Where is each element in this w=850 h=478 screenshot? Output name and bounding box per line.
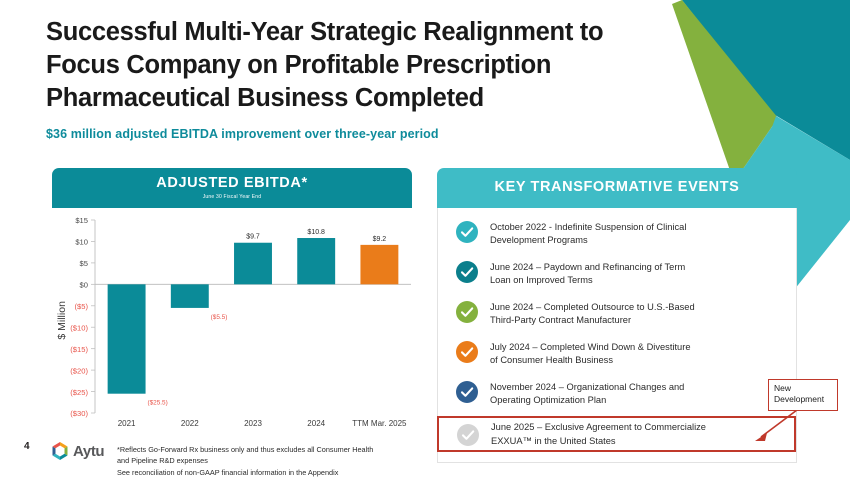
y-axis-tick-label: ($25): [70, 388, 88, 397]
y-axis-tick-label: ($10): [70, 323, 88, 332]
page-subtitle: $36 million adjusted EBITDA improvement …: [46, 127, 666, 141]
footnote-1: *Reflects Go-Forward Rx business only an…: [117, 444, 447, 455]
check-circle-icon: [457, 424, 479, 446]
y-axis-tick-label: $10: [75, 238, 88, 247]
event-row: November 2024 – Organizational Changes a…: [438, 374, 796, 414]
callout-line-1: New: [774, 383, 833, 394]
y-axis-tick-label: $5: [80, 259, 88, 268]
page-title: Successful Multi-Year Strategic Realignm…: [46, 16, 666, 115]
event-line-2: Operating Optimization Plan: [490, 394, 684, 407]
bar-data-label: ($25.5): [147, 400, 167, 407]
y-axis-tick-label: ($30): [70, 409, 88, 418]
y-axis-tick-label: ($5): [74, 302, 88, 311]
event-line-1: October 2022 - Indefinite Suspension of …: [490, 221, 686, 234]
y-axis-tick-label: ($15): [70, 345, 88, 354]
event-line-2: Third-Party Contract Manufacturer: [490, 314, 695, 327]
new-development-callout: New Development: [768, 379, 838, 411]
event-row: October 2022 - Indefinite Suspension of …: [438, 214, 796, 254]
event-text: June 2024 – Paydown and Refinancing of T…: [490, 260, 685, 288]
x-axis-category-label: 2021: [118, 419, 136, 428]
events-panel-header: KEY TRANSFORMATIVE EVENTS: [437, 168, 797, 208]
hexagon-logo-icon: [50, 441, 70, 461]
event-text: June 2025 – Exclusive Agreement to Comme…: [491, 420, 706, 448]
event-text: June 2024 – Completed Outsource to U.S.-…: [490, 300, 695, 328]
x-axis-category-label: 2024: [307, 419, 325, 428]
deco-wedge-green: [672, 0, 778, 182]
event-line-2: of Consumer Health Business: [490, 354, 691, 367]
bar-data-label: ($5.5): [211, 314, 228, 321]
event-row: June 2024 – Completed Outsource to U.S.-…: [438, 294, 796, 334]
callout-line-2: Development: [774, 394, 833, 405]
check-circle-icon: [456, 381, 478, 403]
check-circle-icon: [456, 261, 478, 283]
event-line-1: June 2024 – Completed Outsource to U.S.-…: [490, 301, 695, 314]
event-line-2: EXXUA™ in the United States: [491, 435, 706, 448]
bar: [234, 243, 272, 285]
bar-data-label: $9.2: [373, 236, 387, 243]
bar-data-label: $10.8: [307, 229, 325, 236]
event-line-1: July 2024 – Completed Wind Down & Divest…: [490, 341, 691, 354]
event-line-1: November 2024 – Organizational Changes a…: [490, 381, 684, 394]
chart-panel-header: ADJUSTED EBITDA* June 30 Fiscal Year End: [52, 168, 412, 208]
bar: [360, 245, 398, 284]
footnotes: *Reflects Go-Forward Rx business only an…: [117, 444, 447, 478]
x-axis-category-label: TTM Mar. 2025: [352, 419, 407, 428]
events-panel-title: KEY TRANSFORMATIVE EVENTS: [437, 180, 797, 195]
event-text: October 2022 - Indefinite Suspension of …: [490, 220, 686, 248]
chart-panel-subtitle: June 30 Fiscal Year End: [52, 194, 412, 200]
bar: [171, 284, 209, 308]
chart-svg: $15$10$5$0($5)($10)($15)($20)($25)($30)$…: [52, 212, 417, 437]
event-row: June 2024 – Paydown and Refinancing of T…: [438, 254, 796, 294]
bar-data-label: $9.7: [246, 234, 260, 241]
page-number: 4: [24, 441, 30, 452]
check-circle-icon: [456, 341, 478, 363]
footnote-3: See reconciliation of non-GAAP financial…: [117, 467, 447, 478]
event-line-2: Loan on Improved Terms: [490, 274, 685, 287]
event-line-1: June 2024 – Paydown and Refinancing of T…: [490, 261, 685, 274]
check-circle-icon: [456, 221, 478, 243]
key-transformative-events-list: October 2022 - Indefinite Suspension of …: [437, 208, 797, 463]
y-axis-tick-label: $15: [75, 216, 88, 225]
event-line-1: June 2025 – Exclusive Agreement to Comme…: [491, 421, 706, 434]
event-row: July 2024 – Completed Wind Down & Divest…: [438, 334, 796, 374]
adjusted-ebitda-bar-chart: $15$10$5$0($5)($10)($15)($20)($25)($30)$…: [52, 212, 417, 437]
aytu-logo: Aytu: [50, 439, 124, 463]
y-axis-title: $ Million: [56, 301, 68, 340]
event-text: November 2024 – Organizational Changes a…: [490, 380, 684, 408]
event-text: July 2024 – Completed Wind Down & Divest…: [490, 340, 691, 368]
y-axis-tick-label: $0: [80, 281, 88, 290]
deco-triangle-dark-teal: [682, 0, 850, 160]
bar: [108, 284, 146, 393]
y-axis-tick-label: ($20): [70, 366, 88, 375]
brand-wordmark: Aytu: [73, 444, 104, 459]
x-axis-category-label: 2023: [244, 419, 262, 428]
bar: [297, 238, 335, 284]
check-circle-icon: [456, 301, 478, 323]
event-row: June 2025 – Exclusive Agreement to Comme…: [437, 416, 796, 452]
title-block: Successful Multi-Year Strategic Realignm…: [46, 16, 666, 141]
footnote-2: and Pipeline R&D expenses: [117, 455, 447, 466]
event-line-2: Development Programs: [490, 234, 686, 247]
x-axis-category-label: 2022: [181, 419, 199, 428]
chart-panel-title: ADJUSTED EBITDA*: [52, 176, 412, 191]
